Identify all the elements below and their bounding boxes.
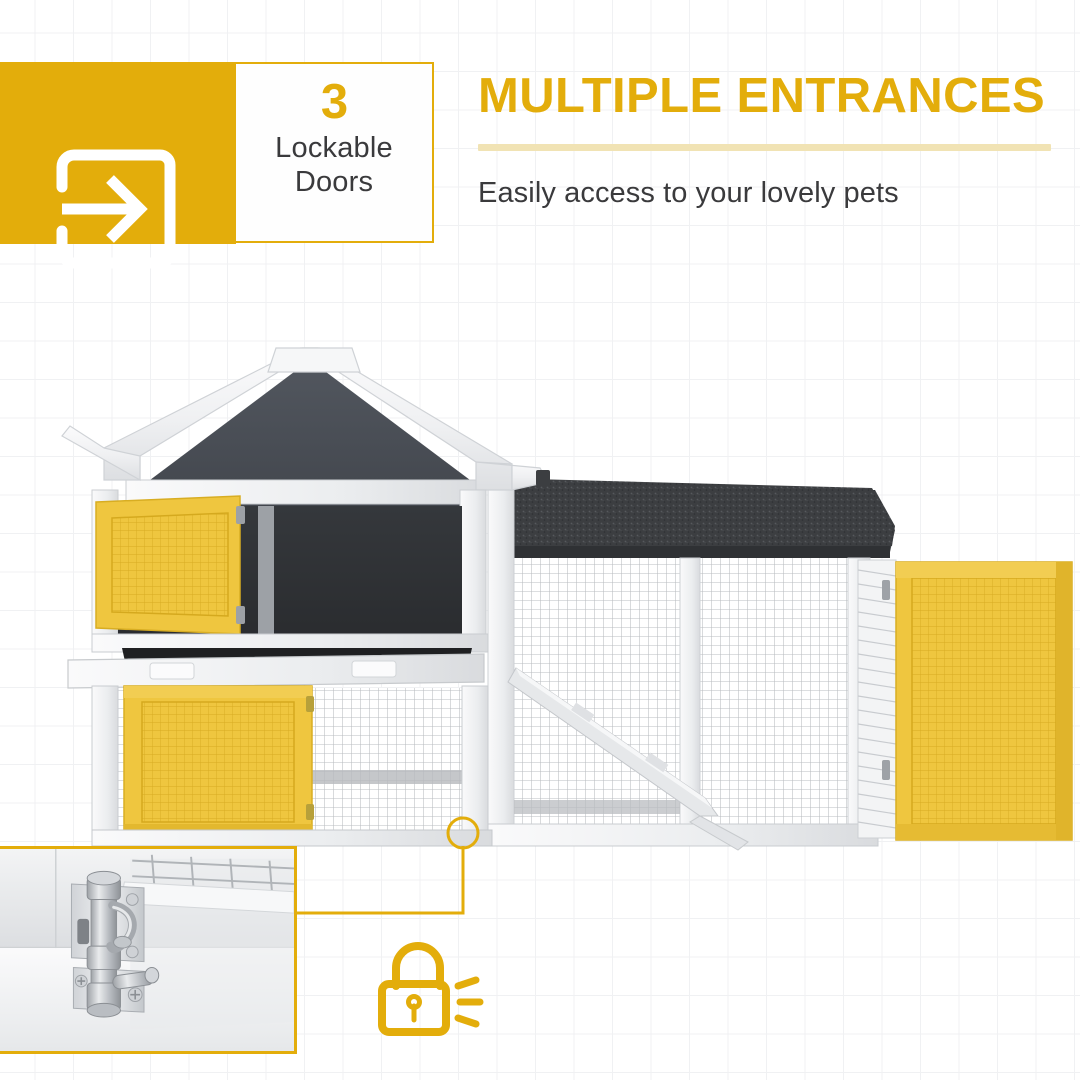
- roof-ridge-cap: [268, 348, 360, 372]
- tray-handle-right[interactable]: [352, 661, 396, 677]
- page-subtitle: Easily access to your lovely pets: [478, 177, 1058, 210]
- bolt-cap: [87, 871, 120, 885]
- page-title: MULTIPLE ENTRANCES: [478, 72, 1058, 121]
- open-padlock-icon: [372, 938, 490, 1038]
- run-inner-shadow: [514, 800, 680, 814]
- slide-bolt-latch-closeup: [0, 849, 294, 1051]
- enter-arrow-icon: [48, 141, 184, 277]
- callout-line: [292, 846, 463, 913]
- yellow-mesh-door-run-open[interactable]: [896, 562, 1072, 840]
- run-side-louver: [858, 560, 896, 838]
- product-illustration: [0, 330, 1080, 860]
- run-post-left: [488, 480, 514, 840]
- bolt-foot: [87, 1003, 120, 1017]
- latch-closeup-inset: [0, 846, 297, 1054]
- badge-count: 3: [321, 75, 347, 129]
- run-base-rail: [488, 824, 878, 846]
- run-roof-plane: [490, 478, 895, 552]
- plate-slot: [77, 919, 89, 944]
- hutch-lower-shadow-rail: [288, 770, 470, 784]
- run-roof-edge: [490, 546, 890, 558]
- run-section: [488, 478, 1072, 850]
- latch-lever-knob: [114, 936, 132, 948]
- hutch-post-right: [460, 490, 486, 642]
- roof-eave-cap-right: [536, 470, 550, 486]
- hutch-interior-divider: [258, 506, 274, 638]
- badge-count-wrap: 3: [321, 78, 347, 127]
- header-band: 3 Lockable Doors MULTIPLE ENTRANCES Easi…: [0, 62, 1080, 244]
- yellow-mesh-door-upper[interactable]: [96, 496, 245, 634]
- badge-label-line1: Lockable: [275, 131, 393, 165]
- hutch-section: [62, 348, 550, 846]
- title-divider: [478, 144, 1051, 151]
- badge-count-box: 3 Lockable Doors: [234, 62, 434, 243]
- badge-gold-block: [0, 62, 236, 244]
- title-block: MULTIPLE ENTRANCES Easily access to your…: [478, 72, 1058, 210]
- badge-label-line2: Doors: [295, 165, 373, 199]
- pull-out-cleaning-tray[interactable]: [68, 654, 484, 688]
- roof-left-overhang: [62, 426, 140, 480]
- latch-highlight-circle: [448, 818, 478, 848]
- tray-handle-left[interactable]: [150, 663, 194, 679]
